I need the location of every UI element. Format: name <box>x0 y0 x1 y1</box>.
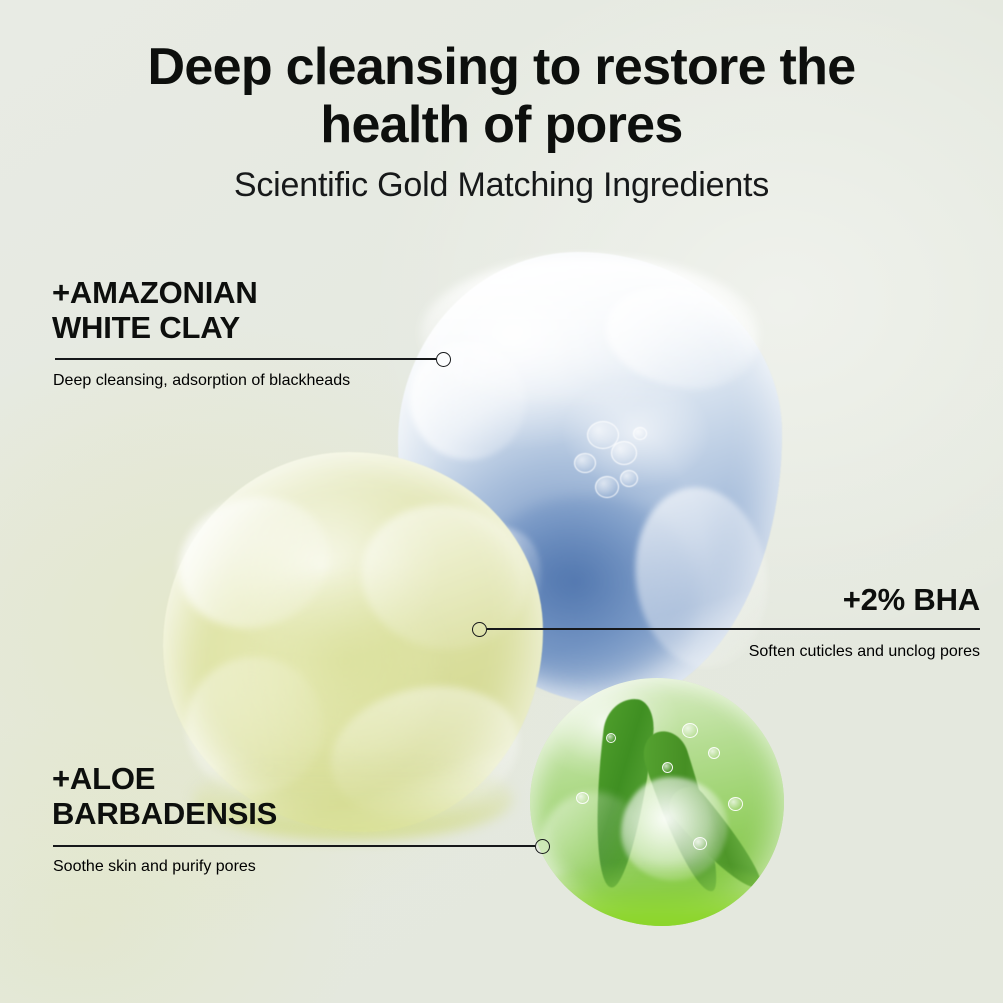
bubble-cluster-icon <box>567 415 659 514</box>
aloe-gel-sphere <box>530 678 784 926</box>
ingredient-description: Deep cleansing, adsorption of blackheads <box>53 372 413 390</box>
callout-aloe-barbadensis: +ALOE BARBADENSIS <box>52 762 472 831</box>
lime-rim <box>530 862 784 926</box>
leader-line-amazonian-white-clay <box>55 352 451 366</box>
ingredient-name: +AMAZONIAN WHITE CLAY <box>52 276 452 345</box>
ingredient-description: Soften cuticles and unclog pores <box>640 643 980 661</box>
ingredient-name: +2% BHA <box>640 583 980 618</box>
leader-circle-icon <box>472 622 487 637</box>
leader-rule <box>53 845 535 847</box>
leader-line-bha <box>472 622 980 636</box>
header: Deep cleansing to restore the health of … <box>0 38 1003 205</box>
callout-bha: +2% BHA <box>640 583 980 618</box>
ingredient-name: +ALOE BARBADENSIS <box>52 762 472 831</box>
product-infographic: Deep cleansing to restore the health of … <box>0 0 1003 1003</box>
leader-rule <box>487 628 980 630</box>
page-subtitle: Scientific Gold Matching Ingredients <box>0 166 1003 205</box>
leader-circle-icon <box>436 352 451 367</box>
leader-circle-icon <box>535 839 550 854</box>
leader-rule <box>55 358 436 360</box>
ingredient-description: Soothe skin and purify pores <box>53 858 413 876</box>
page-title: Deep cleansing to restore the health of … <box>122 38 882 154</box>
leader-line-aloe-barbadensis <box>53 839 550 853</box>
callout-amazonian-white-clay: +AMAZONIAN WHITE CLAY <box>52 276 452 345</box>
